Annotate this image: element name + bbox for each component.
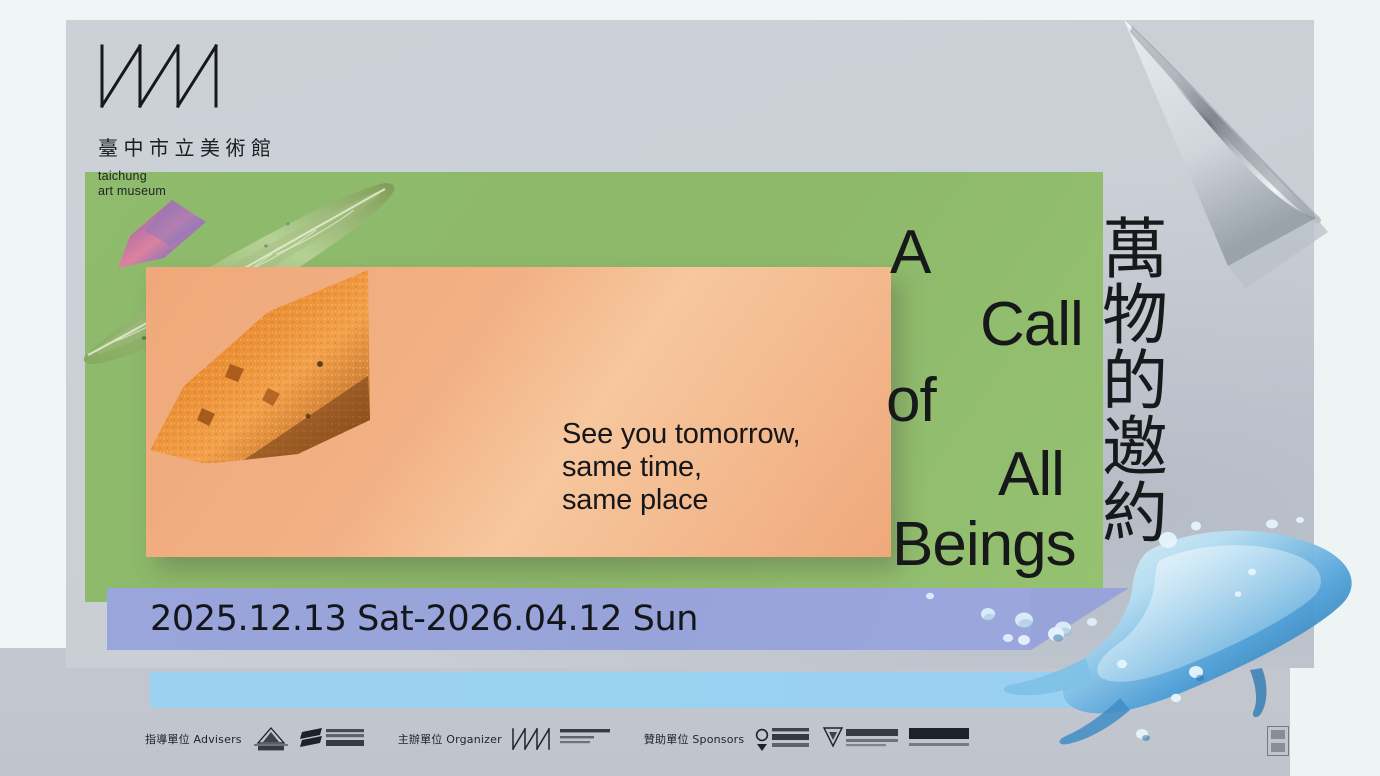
title-line-of: of [886,370,936,432]
light-blue-bar [150,672,1085,708]
title-chinese: 萬物的邀約 [1090,214,1166,544]
taichung-city-government-logo-icon [251,726,291,752]
advertisement-mark-icon [1267,726,1289,756]
taichung-art-museum-wordmark-icon [560,726,612,752]
zigzag-wave-logo-icon [98,44,226,110]
advisers-label: 指導單位 Advisers [145,731,242,747]
organizer-label: 主辦單位 Organizer [398,731,502,747]
title-line-all: All [998,444,1064,506]
arden-logo-icon [909,726,971,752]
title-line-a: A [890,222,930,284]
cultural-affairs-bureau-logo-icon [300,726,366,752]
museum-logo-block: 臺中市立美術館 taichung art museum [98,44,338,199]
footer-credits: 指導單位 Advisers 主辦單位 Organizer [145,726,971,752]
water-splash-image [1000,502,1380,776]
iridescent-shard-image [110,196,230,276]
museum-name-en-line1: taichung [98,169,338,184]
sponsors-label: 贊助單位 Sponsors [644,731,744,747]
exhibition-date-range: 2025.12.13 Sat-2026.04.12 Sun [150,597,698,641]
mineral-crust-image [148,268,373,463]
title-line-call: Call [980,294,1083,356]
poster-canvas: 2025.12.13 Sat-2026.04.12 Sun See you to… [0,0,1380,776]
museum-name-chinese: 臺中市立美術館 [98,132,338,161]
museum-name-en-line2: art museum [98,184,338,199]
foundation-logo-icon [753,726,811,752]
chung-shan-medical-university-logo-icon [820,726,900,752]
taichung-art-museum-zigzag-logo-icon [511,727,551,751]
exhibition-tagline: See you tomorrow, same time, same place [562,418,800,517]
